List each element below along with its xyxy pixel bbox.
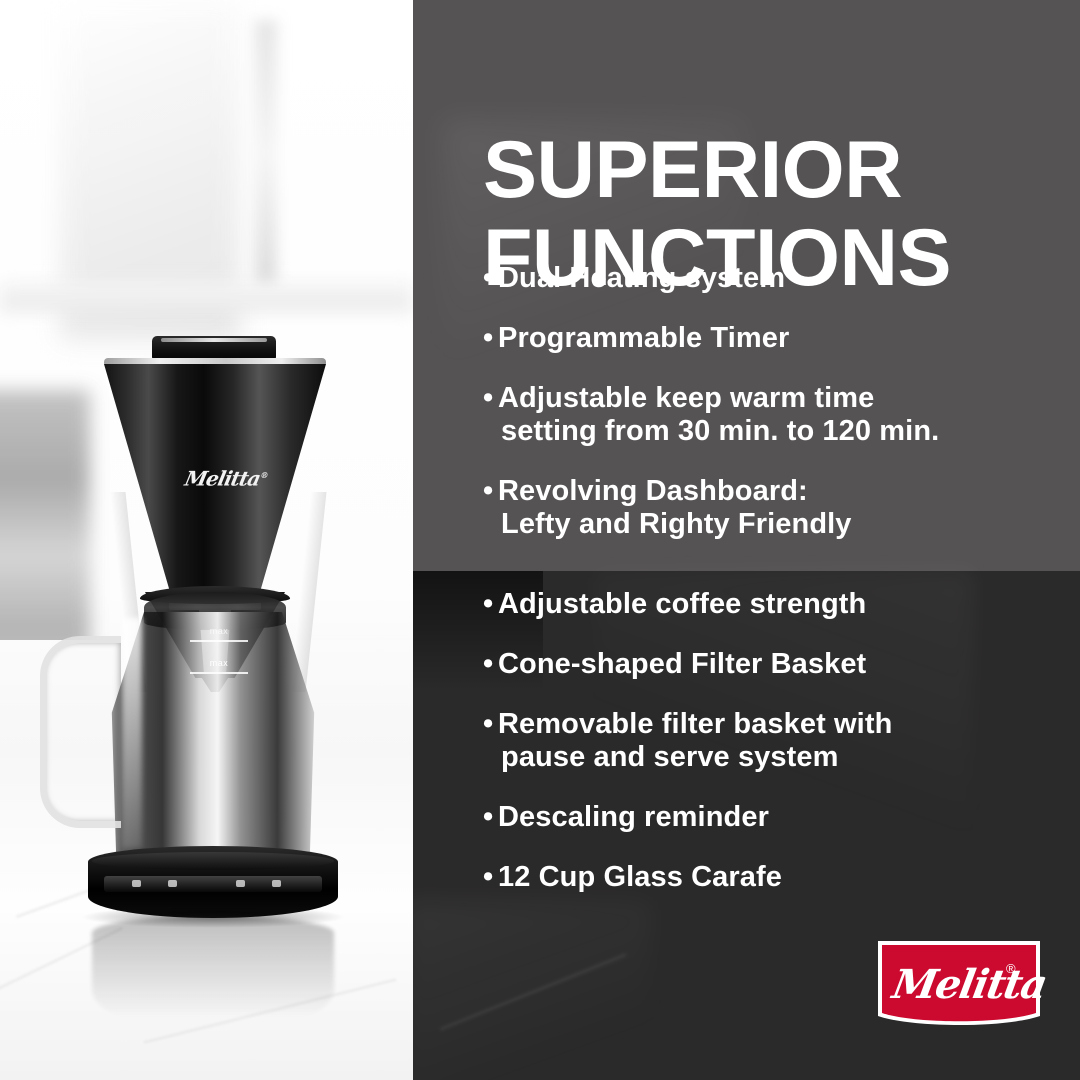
bullet-icon: • [483, 475, 498, 508]
feature-item: •Programmable Timer [483, 322, 1073, 355]
bullet-icon: • [483, 322, 498, 355]
water-tank-lid [152, 336, 276, 360]
feature-text: Dual Heating system [498, 262, 785, 295]
bullet-icon: • [483, 262, 498, 295]
feature-item: •Dual Heating system [483, 262, 1073, 295]
base-ring [92, 852, 334, 870]
feature-text: Adjustable coffee strength [498, 588, 866, 621]
carafe-handle [40, 636, 121, 828]
feature-text: Descaling reminder [498, 801, 769, 834]
feature-text-line-1: Cone-shaped Filter Basket [498, 648, 866, 680]
bullet-icon: • [483, 708, 498, 741]
carafe-level-label-upper: max [190, 626, 248, 636]
carafe-level-line-max [190, 672, 248, 674]
feature-text-line-1: Adjustable keep warm time [498, 382, 874, 414]
melitta-logo: Melitta ® [875, 938, 1043, 1034]
feature-text: Cone-shaped Filter Basket [498, 648, 866, 681]
carafe-level-label-max: max [190, 658, 248, 668]
control-button-keep-warm [272, 880, 281, 887]
feature-item: •Adjustable keep warm timesetting from 3… [483, 382, 1073, 448]
feature-text-line-1: Removable filter basket with [498, 708, 892, 740]
feature-text: Adjustable keep warm timesetting from 30… [498, 382, 939, 448]
control-button-strength [168, 880, 177, 887]
registered-trademark-icon: ® [1006, 962, 1016, 975]
feature-text-line-1: Dual Heating system [498, 262, 785, 294]
feature-text-line-1: Programmable Timer [498, 322, 789, 354]
coffee-maker: Melitta® max max [0, 0, 413, 1080]
carafe-level-line-upper [190, 640, 248, 642]
feature-text: Revolving Dashboard:Lefty and Righty Fri… [498, 475, 852, 541]
bullet-icon: • [483, 382, 498, 415]
feature-text: 12 Cup Glass Carafe [498, 861, 782, 894]
feature-text-line-1: Descaling reminder [498, 801, 769, 833]
bullet-icon: • [483, 801, 498, 834]
feature-item: •Adjustable coffee strength [483, 588, 1073, 621]
product-photo-panel: Melitta® max max [0, 0, 413, 1080]
feature-item: •Removable filter basket withpause and s… [483, 708, 1073, 774]
feature-list-primary: •Dual Heating system •Programmable Timer… [483, 262, 1073, 541]
feature-text-line-2: pause and serve system [498, 741, 892, 774]
feature-text-line-1: Adjustable coffee strength [498, 588, 866, 620]
feature-text-line-2: setting from 30 min. to 120 min. [498, 415, 939, 448]
machine-brand-text: Melitta [183, 467, 263, 491]
bullet-icon: • [483, 861, 498, 894]
feature-text-line-1: Revolving Dashboard: [498, 475, 808, 507]
bullet-icon: • [483, 648, 498, 681]
control-button-timer [236, 880, 245, 887]
feature-item: •Revolving Dashboard:Lefty and Righty Fr… [483, 475, 1073, 541]
page-title-line-1: SUPERIOR [483, 126, 1063, 214]
carafe-highlight [122, 618, 142, 848]
feature-text: Programmable Timer [498, 322, 789, 355]
machine-reflection [92, 916, 334, 1036]
feature-text-panel: SUPERIOR FUNCTIONS •Dual Heating system … [413, 0, 1080, 1080]
feature-list-secondary: •Adjustable coffee strength •Cone-shaped… [483, 588, 1073, 894]
feature-text: Removable filter basket withpause and se… [498, 708, 892, 774]
feature-text-line-1: 12 Cup Glass Carafe [498, 861, 782, 893]
feature-item: •Cone-shaped Filter Basket [483, 648, 1073, 681]
feature-item: •12 Cup Glass Carafe [483, 861, 1073, 894]
machine-registered-mark: ® [259, 470, 268, 480]
product-feature-graphic: Melitta® max max [0, 0, 1080, 1080]
bullet-icon: • [483, 588, 498, 621]
feature-text-line-2: Lefty and Righty Friendly [498, 508, 852, 541]
feature-item: •Descaling reminder [483, 801, 1073, 834]
machine-brand-wordmark: Melitta® [183, 462, 279, 488]
control-button-power [132, 880, 141, 887]
